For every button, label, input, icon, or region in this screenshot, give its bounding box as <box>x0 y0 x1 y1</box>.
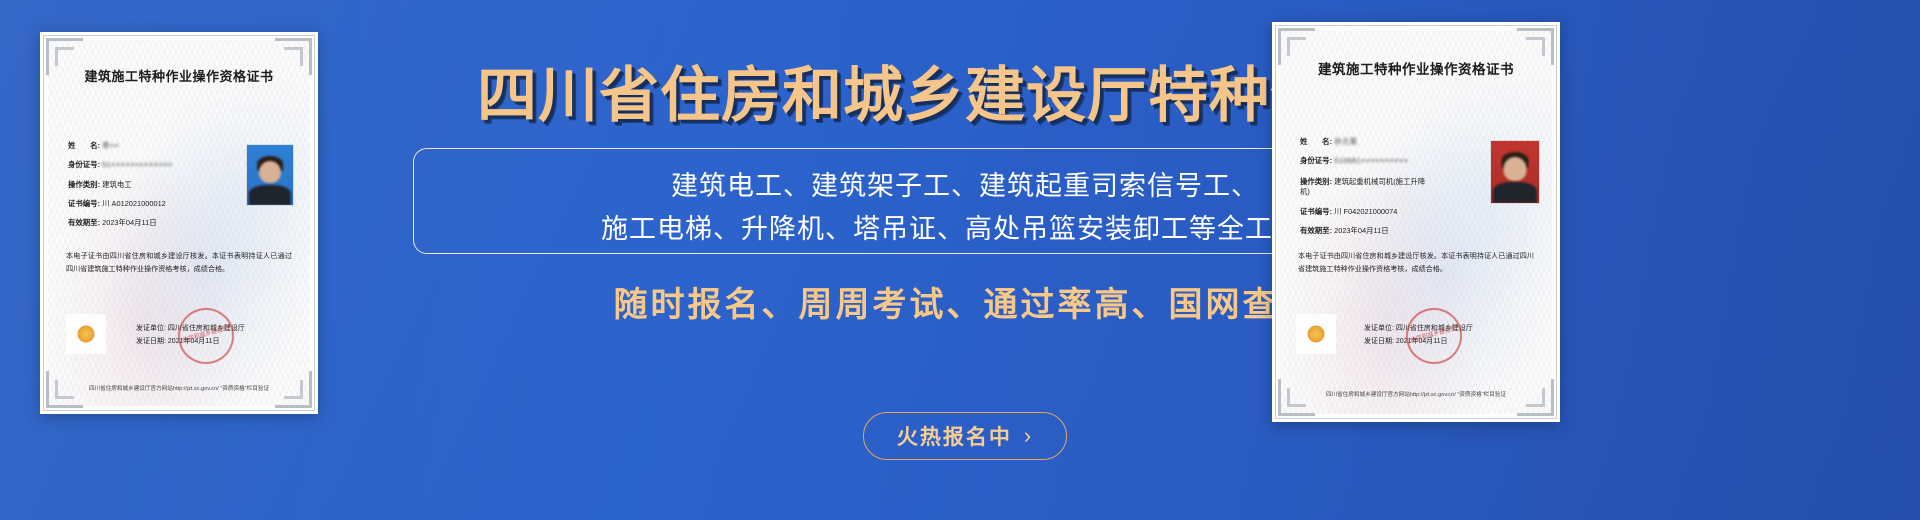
promo-banner: 建筑施工特种作业操作资格证书 姓 名: 李×× 身份证号: 51××××××××… <box>0 0 1920 520</box>
portrait-body <box>249 185 291 205</box>
field-id-number: 身份证号: 51××××××××××××× <box>68 161 172 169</box>
portrait-face <box>259 161 281 184</box>
field-certificate-number: 证书编号: 川 F042021000074 <box>1300 208 1428 216</box>
certificate-title-right: 建筑施工特种作业操作资格证书 <box>1272 58 1560 78</box>
certificate-paragraph-right: 本电子证书由四川省住房和城乡建设厅核发。本证书表明持证人已通过四川省建筑施工特种… <box>1298 250 1534 276</box>
qr-code-icon <box>1296 314 1336 354</box>
field-name: 姓 名: 孙兰英 <box>1300 138 1428 146</box>
certificate-fields-left: 姓 名: 李×× 身份证号: 51××××××××××××× 操作类别: 建筑电… <box>68 142 172 238</box>
qr-center-logo-icon <box>1308 326 1325 343</box>
field-valid-until: 有效期至: 2023年04月11日 <box>1300 227 1428 235</box>
field-valid-until: 有效期至: 2023年04月11日 <box>68 219 172 227</box>
qr-center-logo-icon <box>78 326 95 343</box>
certificate-fields-right: 姓 名: 孙兰英 身份证号: 510681×××××××××× 操作类别: 建筑… <box>1300 138 1428 247</box>
field-operation-type: 操作类别: 建筑电工 <box>68 181 172 189</box>
field-id-number: 身份证号: 510681×××××××××× <box>1300 157 1428 165</box>
field-name: 姓 名: 李×× <box>68 142 172 150</box>
certificate-paragraph-left: 本电子证书由四川省住房和城乡建设厅核发。本证书表明持证人已通过四川省建筑施工特种… <box>66 250 292 276</box>
portrait-face <box>1503 157 1526 181</box>
certificate-footer-right: 四川省住房和城乡建设厅官方网站http://jzt.sc.gov.cn/ "资质… <box>1286 390 1546 398</box>
certificate-title-left: 建筑施工特种作业操作资格证书 <box>40 66 318 85</box>
certificate-card-right: 建筑施工特种作业操作资格证书 姓 名: 孙兰英 身份证号: 510681××××… <box>1272 22 1560 422</box>
field-operation-type: 操作类别: 建筑起重机械司机(施工升降机) <box>1300 177 1428 197</box>
chevron-right-icon: › <box>1024 425 1033 447</box>
enroll-cta-button[interactable]: 火热报名中 › <box>863 412 1067 460</box>
page-title-primary: 四川省住房和城乡建设厅特种 <box>477 62 1270 129</box>
portrait-body <box>1493 182 1537 203</box>
field-certificate-number: 证书编号: 川 A012021000012 <box>68 200 172 208</box>
enroll-cta-label: 火热报名中 <box>897 421 1012 451</box>
certificate-footer-left: 四川省住房和城乡建设厅官方网站http://jzt.sc.gov.cn/ "资质… <box>54 384 304 392</box>
qr-code-icon <box>66 314 106 354</box>
certificate-photo-left <box>246 144 294 206</box>
certificate-photo-right <box>1490 140 1540 204</box>
certificate-card-left: 建筑施工特种作业操作资格证书 姓 名: 李×× 身份证号: 51××××××××… <box>40 32 318 414</box>
